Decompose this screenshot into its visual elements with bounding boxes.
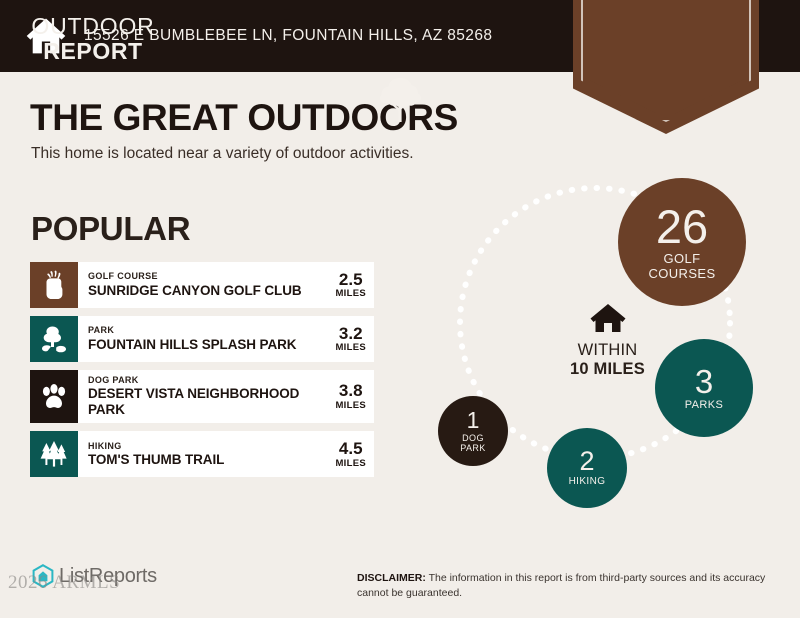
bubble-label-line2: COURSES	[648, 266, 715, 281]
bubble-count: 2	[579, 448, 594, 475]
list-item-category: PARK	[88, 325, 329, 336]
distance-value: 3.8	[335, 382, 366, 400]
bubble-golf-courses[interactable]: 26 GOLF COURSES	[618, 178, 746, 306]
list-item[interactable]: GOLF COURSE SUNRIDGE CANYON GOLF CLUB 2.…	[30, 262, 374, 308]
badge-inner-border	[581, 0, 751, 122]
outdoor-report-badge	[573, 0, 759, 134]
pine-trees-icon	[39, 440, 69, 468]
bubble-label: HIKING	[569, 476, 606, 487]
list-item-name: TOM'S THUMB TRAIL	[88, 452, 329, 468]
list-item-text: PARK FOUNTAIN HILLS SPLASH PARK	[88, 325, 329, 352]
list-item[interactable]: DOG PARK DESERT VISTA NEIGHBORHOOD PARK …	[30, 370, 374, 423]
bubble-count: 1	[467, 409, 480, 432]
list-item-distance: 3.8 MILES	[329, 382, 366, 411]
list-item-body: HIKING TOM'S THUMB TRAIL 4.5 MILES	[78, 431, 374, 477]
list-item-name: SUNRIDGE CANYON GOLF CLUB	[88, 283, 329, 299]
badge-line-2: REPORT	[0, 39, 186, 64]
mls-watermark: 2026 ARMLS	[8, 572, 120, 594]
golf-bag-icon	[41, 270, 67, 300]
distance-value: 2.5	[335, 271, 366, 289]
page-subtitle: This home is located near a variety of o…	[31, 145, 414, 163]
list-item-category: HIKING	[88, 441, 329, 452]
list-item-name: FOUNTAIN HILLS SPLASH PARK	[88, 337, 329, 353]
list-item-icon-box	[30, 370, 78, 423]
bubble-label: PARKS	[685, 399, 723, 411]
distance-unit: MILES	[335, 400, 366, 411]
list-item-body: PARK FOUNTAIN HILLS SPLASH PARK 3.2 MILE…	[78, 316, 374, 362]
list-item-body: DOG PARK DESERT VISTA NEIGHBORHOOD PARK …	[78, 370, 374, 423]
list-item-text: GOLF COURSE SUNRIDGE CANYON GOLF CLUB	[88, 271, 329, 298]
list-item-icon-box	[30, 262, 78, 308]
bubble-label-line1: DOG	[462, 433, 484, 443]
disclaimer: DISCLAIMER: The information in this repo…	[357, 571, 781, 601]
bubble-label: DOG PARK	[460, 433, 485, 453]
list-item-text: DOG PARK DESERT VISTA NEIGHBORHOOD PARK	[88, 375, 329, 418]
list-item-distance: 4.5 MILES	[329, 440, 366, 469]
list-item-icon-box	[30, 431, 78, 477]
bubble-count: 26	[656, 203, 708, 250]
chart-center-line2: 10 MILES	[535, 360, 680, 380]
house-icon	[590, 303, 626, 334]
chart-center-line1: WITHIN	[535, 341, 680, 360]
bubble-count: 3	[695, 365, 713, 398]
list-item-distance: 3.2 MILES	[329, 325, 366, 354]
bubble-dog-park[interactable]: 1 DOG PARK	[438, 396, 508, 466]
list-item-category: GOLF COURSE	[88, 271, 329, 282]
distance-unit: MILES	[335, 342, 366, 353]
bubble-label: GOLF COURSES	[648, 252, 715, 281]
badge-title: OUTDOOR REPORT	[0, 14, 186, 64]
list-item-name: DESERT VISTA NEIGHBORHOOD PARK	[88, 386, 329, 418]
list-item-icon-box	[30, 316, 78, 362]
list-item[interactable]: HIKING TOM'S THUMB TRAIL 4.5 MILES	[30, 431, 374, 477]
tree-icon	[378, 76, 422, 122]
chart-center-label: WITHIN 10 MILES	[535, 303, 680, 380]
paw-print-icon	[40, 383, 68, 411]
distance-value: 3.2	[335, 325, 366, 343]
list-item[interactable]: PARK FOUNTAIN HILLS SPLASH PARK 3.2 MILE…	[30, 316, 374, 362]
bubble-hiking[interactable]: 2 HIKING	[547, 428, 627, 508]
list-item-text: HIKING TOM'S THUMB TRAIL	[88, 441, 329, 468]
disclaimer-label: DISCLAIMER:	[357, 572, 426, 584]
distance-unit: MILES	[335, 288, 366, 299]
bubble-label-line1: GOLF	[664, 251, 701, 266]
distance-value: 4.5	[335, 440, 366, 458]
bubble-label-line2: PARK	[460, 443, 485, 453]
list-item-distance: 2.5 MILES	[329, 271, 366, 300]
badge-line-1: OUTDOOR	[0, 14, 186, 39]
popular-places-list: GOLF COURSE SUNRIDGE CANYON GOLF CLUB 2.…	[30, 262, 374, 485]
list-item-body: GOLF COURSE SUNRIDGE CANYON GOLF CLUB 2.…	[78, 262, 374, 308]
distance-unit: MILES	[335, 458, 366, 469]
list-item-category: DOG PARK	[88, 375, 329, 386]
section-title-popular: POPULAR	[31, 210, 190, 248]
park-tree-icon	[39, 325, 69, 353]
outdoor-amenities-bubble-chart: 26 GOLF COURSES 3 PARKS 2 HIKING 1 DOG P…	[415, 175, 800, 520]
